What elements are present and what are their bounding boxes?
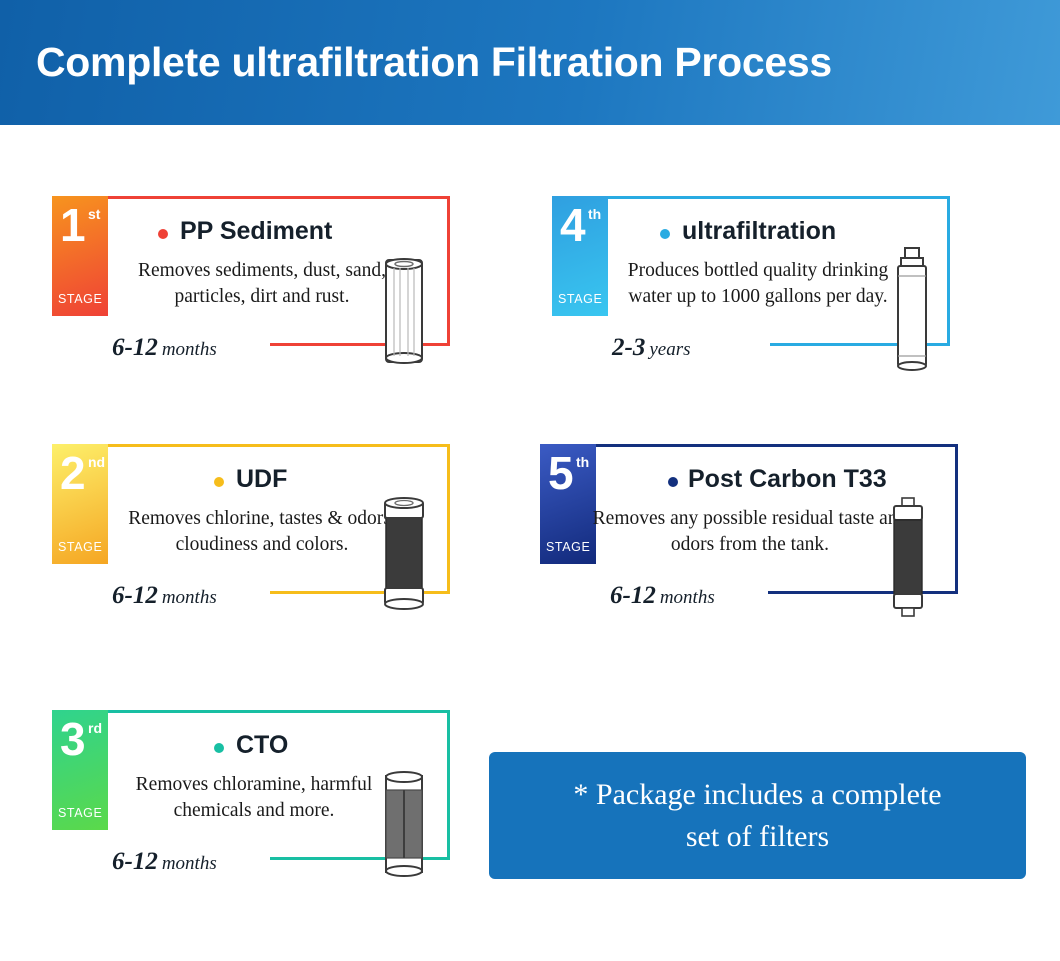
stage-card-1: 1 st STAGE PP Sediment Removes sediments… bbox=[52, 196, 467, 381]
stage-description: Removes chlorine, tastes & odors, cloudi… bbox=[112, 506, 412, 558]
stage-lifetime: 6-12 months bbox=[112, 334, 217, 362]
stage-lifetime: 6-12 months bbox=[112, 582, 217, 610]
stage-number: 5 bbox=[548, 450, 574, 496]
stage-description: Removes chloramine, harmful chemicals an… bbox=[104, 772, 404, 824]
cto-cartridge-icon bbox=[372, 766, 436, 882]
stage-badge-1: 1 st STAGE bbox=[52, 196, 108, 316]
bullet-dot bbox=[668, 477, 678, 487]
bullet-dot bbox=[214, 743, 224, 753]
ultrafiltration-membrane-icon bbox=[882, 244, 942, 376]
stage-number: 1 bbox=[60, 202, 86, 248]
stage-description: Produces bottled quality drinking water … bbox=[608, 258, 908, 310]
package-note-line1: * Package includes a complete bbox=[573, 774, 941, 816]
stage-card-5: 5 th STAGE Post Carbon T33 Removes any p… bbox=[540, 444, 955, 629]
stage-description: Removes any possible residual taste and … bbox=[590, 506, 910, 558]
stage-title: Post Carbon T33 bbox=[688, 465, 887, 494]
lifetime-value: 2-3 bbox=[612, 334, 645, 361]
lifetime-unit: months bbox=[660, 587, 715, 608]
stage-badge-2: 2 nd STAGE bbox=[52, 444, 108, 564]
pp-sediment-cartridge-icon bbox=[374, 256, 434, 366]
stage-title: CTO bbox=[236, 731, 288, 760]
lifetime-unit: months bbox=[162, 587, 217, 608]
stage-badge-3: 3 rd STAGE bbox=[52, 710, 108, 830]
lifetime-value: 6-12 bbox=[112, 334, 158, 361]
stage-card-2: 2 nd STAGE UDF Removes chlorine, tastes … bbox=[52, 444, 467, 629]
stage-ordinal: st bbox=[88, 206, 100, 222]
stage-ordinal: th bbox=[576, 454, 589, 470]
stage-title: UDF bbox=[236, 465, 287, 494]
stage-badge-4: 4 th STAGE bbox=[552, 196, 608, 316]
stage-badge-5: 5 th STAGE bbox=[540, 444, 596, 564]
package-note-box: * Package includes a complete set of fil… bbox=[489, 752, 1026, 879]
package-note-text: * Package includes a complete set of fil… bbox=[549, 774, 965, 858]
stage-word: STAGE bbox=[58, 540, 102, 554]
lifetime-unit: months bbox=[162, 339, 217, 360]
lifetime-value: 6-12 bbox=[610, 582, 656, 609]
stage-ordinal: th bbox=[588, 206, 601, 222]
stage-number: 2 bbox=[60, 450, 86, 496]
stage-title: ultrafiltration bbox=[682, 217, 836, 246]
stage-word: STAGE bbox=[58, 292, 102, 306]
stage-description: Removes sediments, dust, sand, particles… bbox=[112, 258, 412, 310]
stage-word: STAGE bbox=[58, 806, 102, 820]
stage-word: STAGE bbox=[558, 292, 602, 306]
package-note-line2: set of filters bbox=[573, 816, 941, 858]
stage-card-3: 3 rd STAGE CTO Removes chloramine, harmf… bbox=[52, 710, 467, 895]
stage-number: 4 bbox=[560, 202, 586, 248]
post-carbon-t33-cartridge-icon bbox=[878, 496, 938, 618]
stage-lifetime: 6-12 months bbox=[610, 582, 715, 610]
stage-ordinal: rd bbox=[88, 720, 102, 736]
stage-lifetime: 6-12 months bbox=[112, 848, 217, 876]
page-header: Complete ultrafiltration Filtration Proc… bbox=[0, 0, 1060, 125]
page-title: Complete ultrafiltration Filtration Proc… bbox=[36, 39, 832, 86]
stage-card-4: 4 th STAGE ultrafiltration Produces bott… bbox=[552, 196, 967, 381]
lifetime-value: 6-12 bbox=[112, 848, 158, 875]
bullet-dot bbox=[660, 229, 670, 239]
stage-ordinal: nd bbox=[88, 454, 105, 470]
lifetime-value: 6-12 bbox=[112, 582, 158, 609]
stage-title: PP Sediment bbox=[180, 217, 332, 246]
stage-lifetime: 2-3 years bbox=[612, 334, 690, 362]
lifetime-unit: months bbox=[162, 853, 217, 874]
lifetime-unit: years bbox=[649, 339, 690, 360]
stage-number: 3 bbox=[60, 716, 86, 762]
stage-word: STAGE bbox=[546, 540, 590, 554]
udf-cartridge-icon bbox=[372, 494, 436, 612]
bullet-dot bbox=[158, 229, 168, 239]
bullet-dot bbox=[214, 477, 224, 487]
